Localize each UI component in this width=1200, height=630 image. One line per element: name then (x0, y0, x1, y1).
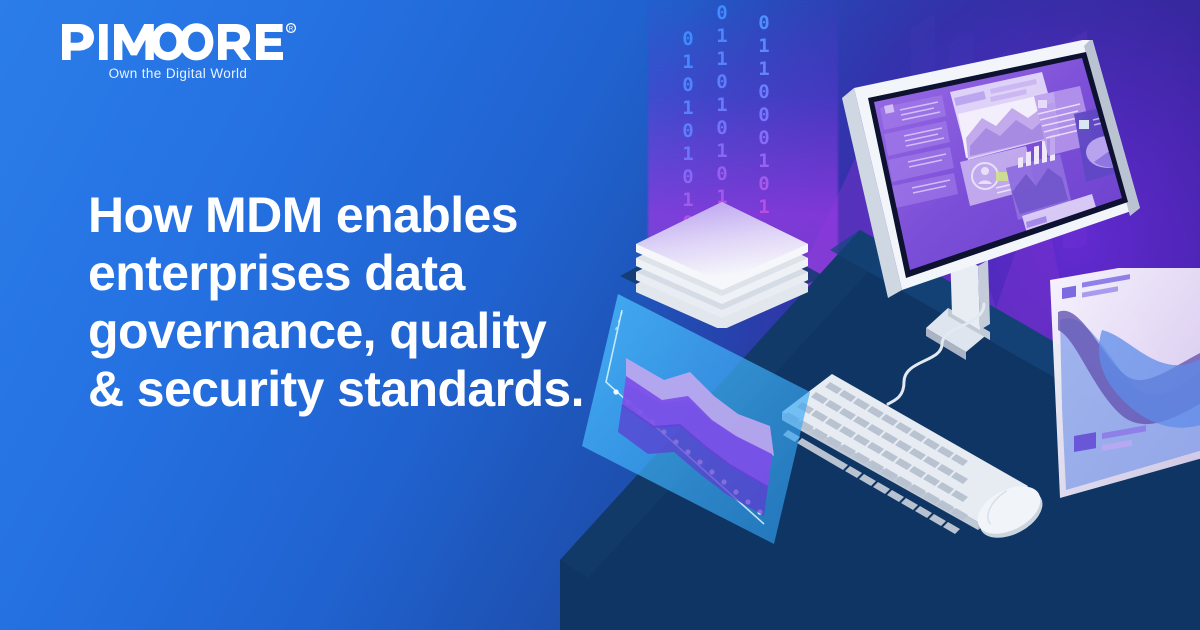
headline-line-4: & security standards. (88, 360, 708, 418)
headline-line-3: governance, quality (88, 302, 708, 360)
headline-line-1: How MDM enables (88, 186, 708, 244)
floating-wave-panel (1040, 268, 1200, 558)
headline-line-2: enterprises data (88, 244, 708, 302)
page-title: How MDM enables enterprises data governa… (88, 186, 708, 418)
monitor-cable (880, 300, 1000, 410)
social-card: R Own the Digital World 010101010101 011… (0, 0, 1200, 630)
